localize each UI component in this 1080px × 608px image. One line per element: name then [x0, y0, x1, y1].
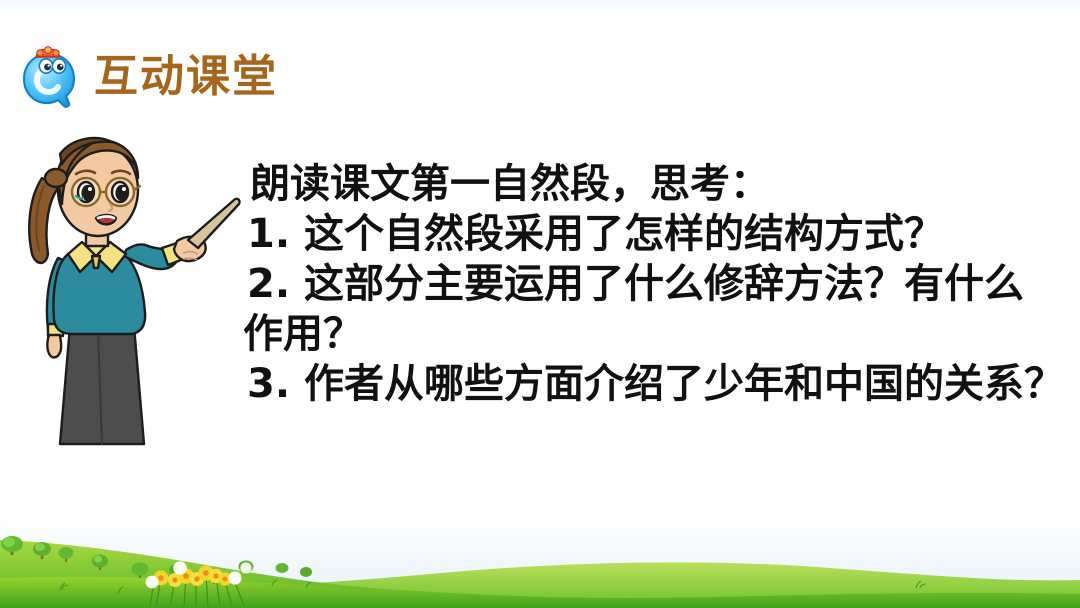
question-item-2-continued: 作用？	[241, 309, 1071, 359]
q-mascot-icon	[18, 44, 80, 108]
slide-header: 互动课堂	[18, 44, 278, 108]
page-title: 互动课堂	[94, 55, 278, 99]
question-item-3: 3. 作者从哪些方面介绍了少年和中国的关系？	[241, 359, 1071, 409]
top-gradient-band	[0, 0, 1080, 10]
question-block: 朗读课文第一自然段，思考： 1. 这个自然段采用了怎样的结构方式？ 2. 这部分…	[241, 159, 1071, 409]
green-hills-flowers-footer	[0, 516, 1080, 608]
prompt-line: 朗读课文第一自然段，思考：	[241, 159, 1071, 209]
question-item-2: 2. 这部分主要运用了什么修辞方法？有什么	[241, 259, 1071, 309]
teacher-pointing-illustration	[12, 108, 248, 446]
slide-root: 互动课堂	[0, 0, 1080, 608]
question-item-1: 1. 这个自然段采用了怎样的结构方式？	[241, 209, 1071, 259]
